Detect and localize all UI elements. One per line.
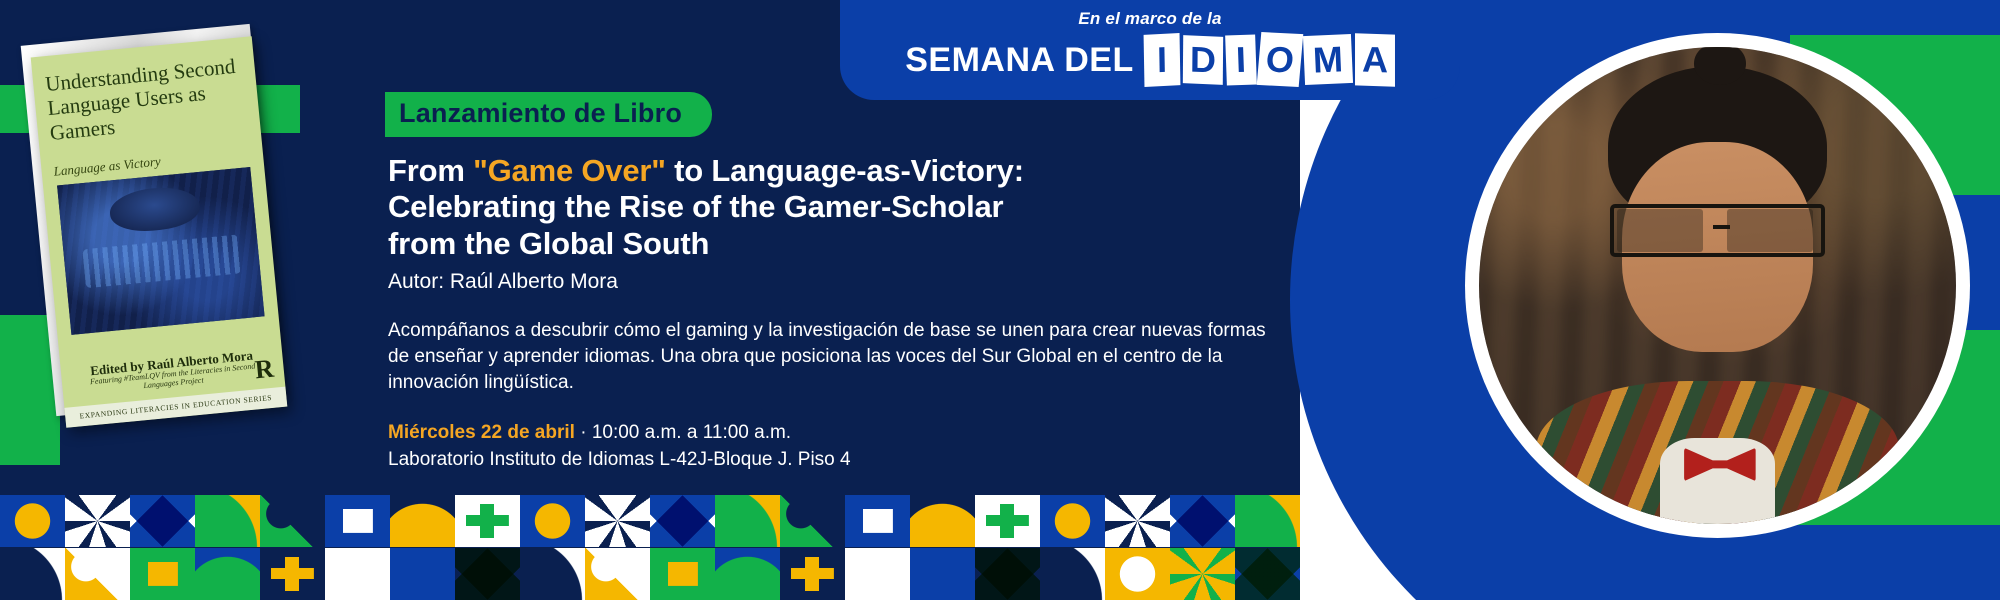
pattern-tile-bottom [260,548,325,600]
pattern-tile-bottom [715,548,780,600]
logo-letter-tile-i1: I [1143,33,1180,87]
book-cover-artwork: Understanding Second Language Users as G… [20,30,290,420]
pattern-tile-top [1040,495,1105,547]
pattern-tile-top [975,495,1040,547]
pattern-tile-top [780,495,845,547]
pattern-tile-top [1170,495,1235,547]
pattern-tile [1105,495,1170,600]
pattern-tile [1040,495,1105,600]
pattern-tile-bottom [845,548,910,600]
pattern-tile-top [455,495,520,547]
headline-highlight-game-over: "Game Over" [473,153,666,188]
event-headline: From "Game Over" to Language-as-Victory:… [388,153,1308,262]
pattern-tile-top [390,495,455,547]
pattern-tile-top [0,495,65,547]
headline-line3: from the Global South [388,226,709,261]
event-type-badge: Lanzamiento de Libro [385,92,712,137]
event-location: Laboratorio Instituto de Idiomas L-42J-B… [388,449,1308,471]
headline-line1-part-b: to Language-as-Victory: [666,153,1024,188]
event-datetime-line: Miércoles 22 de abril · 10:00 a.m. a 11:… [388,422,1308,444]
pattern-tile [0,495,65,600]
logo-letter-tile-o: O [1256,32,1303,87]
event-details: Miércoles 22 de abril · 10:00 a.m. a 11:… [388,422,1308,471]
headline-line2: Celebrating the Rise of the Gamer-Schola… [388,189,1003,224]
pattern-tile [715,495,780,600]
event-detail-separator: · [575,422,592,443]
pattern-tile [65,495,130,600]
pattern-tile [520,495,585,600]
pattern-tile-bottom [390,548,455,600]
pattern-tile [585,495,650,600]
pattern-tile-top [195,495,260,547]
pattern-tile-bottom [65,548,130,600]
pattern-tile [975,495,1040,600]
headline-line1: From "Game Over" to Language-as-Victory: [388,153,1024,188]
headline-line1-part-a: From [388,153,473,188]
pattern-tile [195,495,260,600]
pattern-tile-top [65,495,130,547]
semana-del-idioma-card: En el marco de la SEMANA DEL I D I O M A [840,0,1460,100]
pattern-tile-bottom [455,548,520,600]
pattern-tile-bottom [325,548,390,600]
pattern-tile-top [1235,495,1300,547]
logo-letter-tile-a: A [1355,33,1395,86]
pattern-tile-bottom [0,548,65,600]
pattern-tile-top [260,495,325,547]
pattern-tile-bottom [650,548,715,600]
pattern-tile-bottom [975,548,1040,600]
event-content: Lanzamiento de Libro From "Game Over" to… [388,92,1308,471]
book-title: Understanding Second Language Users as G… [44,53,248,145]
book-cover-photo [57,167,264,335]
pattern-tile [845,495,910,600]
pattern-tile [780,495,845,600]
logo-semana-del-text: SEMANA DEL [905,43,1134,77]
pattern-tile [1235,495,1300,600]
event-description: Acompáñanos a descubrir cómo el gaming y… [388,318,1268,397]
pattern-tile [130,495,195,600]
pattern-tile [650,495,715,600]
glasses-icon [1610,204,1825,256]
logo-letter-tile-d: D [1183,35,1223,85]
pattern-tile-top [650,495,715,547]
pattern-tile-bottom [1040,548,1105,600]
portrait-shirt [1660,438,1774,524]
pattern-tile-bottom [1170,548,1235,600]
speaker-portrait-ring [1465,33,1970,538]
decorative-pattern-strip [0,495,1300,600]
logo-idioma-tiles: I D I O M A [1144,33,1395,86]
speaker-portrait [1479,47,1956,524]
pattern-tile-top [845,495,910,547]
logo-letter-tile-i2: I [1225,34,1257,85]
pattern-tile [455,495,520,600]
framing-pretitle: En el marco de la [1078,9,1221,29]
event-time: 10:00 a.m. a 11:00 a.m. [592,422,791,443]
pattern-tile [1170,495,1235,600]
pattern-tile-top [325,495,390,547]
pattern-tile-top [130,495,195,547]
pattern-tile-top [1105,495,1170,547]
pattern-tile-bottom [1235,548,1300,600]
pattern-tile-top [910,495,975,547]
pattern-tile-bottom [585,548,650,600]
pattern-tile [910,495,975,600]
event-banner: En el marco de la SEMANA DEL I D I O M A… [0,0,2000,600]
pattern-tile-bottom [1105,548,1170,600]
pattern-tile-top [715,495,780,547]
pattern-tile-bottom [910,548,975,600]
semana-del-idioma-logo: SEMANA DEL I D I O M A [905,33,1395,86]
pattern-tile-bottom [195,548,260,600]
book-front-cover: Understanding Second Language Users as G… [31,36,288,428]
pattern-tile [325,495,390,600]
pattern-tile-bottom [520,548,585,600]
pattern-tile-top [585,495,650,547]
pattern-tile-bottom [130,548,195,600]
pattern-tile-bottom [780,548,845,600]
publisher-logo-icon: R [254,356,275,384]
event-date: Miércoles 22 de abril [388,422,575,443]
pattern-tile [260,495,325,600]
logo-letter-tile-m: M [1303,34,1353,85]
author-line: Autor: Raúl Alberto Mora [388,270,1308,294]
pattern-tile-top [520,495,585,547]
pattern-tile [390,495,455,600]
